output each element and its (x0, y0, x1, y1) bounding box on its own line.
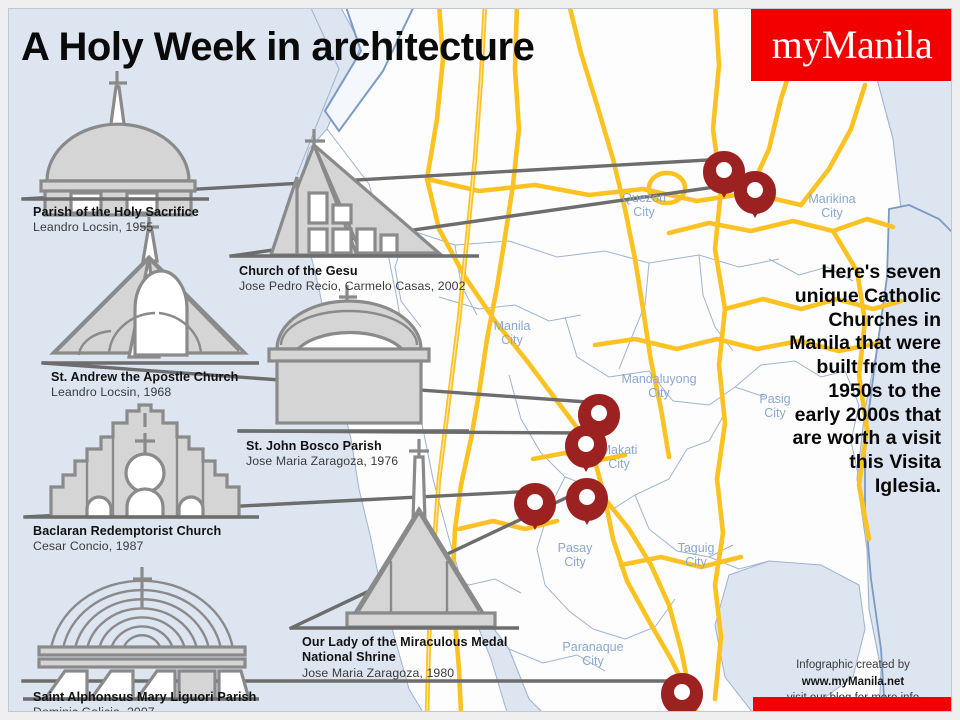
intro-blurb: Here's seven unique Catholic Churches in… (779, 261, 941, 499)
church-architect-year: Leandro Locsin, 1968 (51, 385, 238, 400)
infographic-panel: .fillg { fill:#d5d5d5; stroke:#8a8a8a; s… (8, 8, 952, 712)
church-label-holy-sacrifice: Parish of the Holy Sacrifice Leandro Loc… (33, 205, 199, 235)
page-title: A Holy Week in architecture (21, 25, 534, 70)
credit-line-1: Infographic created by (761, 657, 945, 674)
church-name: Baclaran Redemptorist Church (33, 524, 221, 539)
church-label-andrew: St. Andrew the Apostle Church Leandro Lo… (51, 370, 238, 400)
marker-holy-sacrifice[interactable] (734, 171, 776, 218)
church-name: Parish of the Holy Sacrifice (33, 205, 199, 220)
church-architect-year: Jose Maria Zaragoza, 1980 (302, 666, 517, 681)
credit-website[interactable]: www.myManila.net (761, 674, 945, 691)
mymanila-logo[interactable]: myManila (751, 9, 952, 81)
marker-alphonsus[interactable] (661, 673, 703, 712)
church-label-baclaran: Baclaran Redemptorist Church Cesar Conci… (33, 524, 221, 554)
footer-accent-bar (753, 697, 952, 711)
marker-miraculous[interactable] (566, 478, 608, 525)
church-architect-year: Dominic Galicia, 2007 (33, 705, 256, 712)
church-name: Saint Alphonsus Mary Liguori Parish (33, 690, 256, 705)
marker-andrew[interactable] (565, 425, 607, 472)
church-architect-year: Jose Pedro Recio, Carmelo Casas, 2002 (239, 279, 466, 294)
church-name: St. Andrew the Apostle Church (51, 370, 238, 385)
church-name: Church of the Gesu (239, 264, 466, 279)
church-architect-year: Jose Maria Zaragoza, 1976 (246, 454, 398, 469)
church-label-gesu: Church of the Gesu Jose Pedro Recio, Car… (239, 264, 466, 294)
church-label-miraculous: Our Lady of the Miraculous Medal Nationa… (302, 635, 517, 681)
infographic-canvas: .fillg { fill:#d5d5d5; stroke:#8a8a8a; s… (0, 0, 960, 720)
church-label-bosco: St. John Bosco Parish Jose Maria Zaragoz… (246, 439, 398, 469)
church-name: St. John Bosco Parish (246, 439, 398, 454)
church-architect-year: Cesar Concio, 1987 (33, 539, 221, 554)
marker-baclaran[interactable] (514, 483, 556, 530)
logo-text: myManila (772, 25, 932, 65)
church-architect-year: Leandro Locsin, 1955 (33, 220, 199, 235)
church-label-alphonsus: Saint Alphonsus Mary Liguori Parish Domi… (33, 690, 256, 712)
church-name: Our Lady of the Miraculous Medal Nationa… (302, 635, 517, 666)
